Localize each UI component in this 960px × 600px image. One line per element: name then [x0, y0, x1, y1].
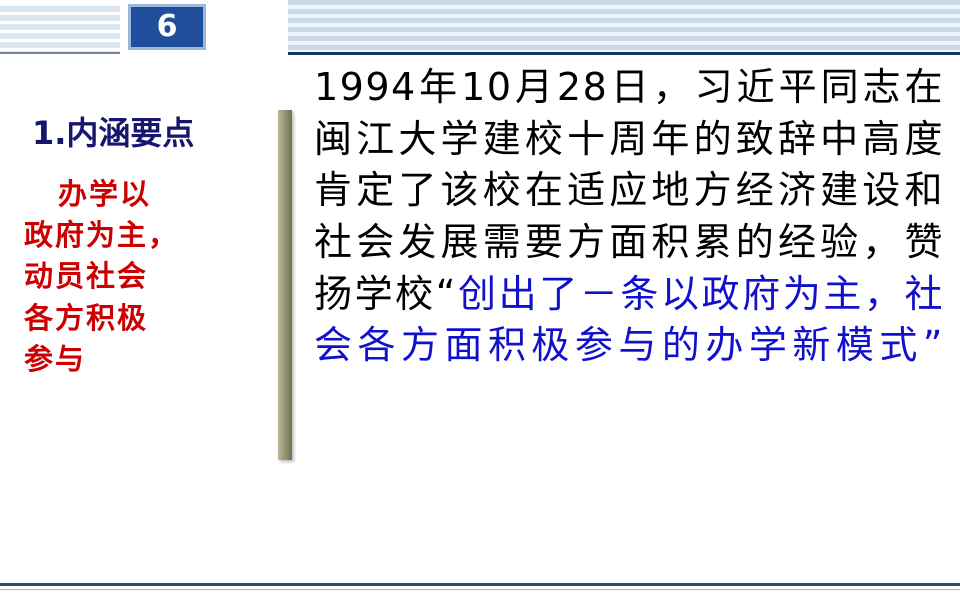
bottom-rule-navy [0, 583, 960, 586]
left-body-line-1: 办学以 [24, 174, 272, 215]
band-left-stripes [0, 6, 120, 54]
vertical-divider-bar [278, 110, 292, 460]
band-right-stripes [288, 0, 960, 55]
left-body-line-2: 政府为主， [24, 215, 272, 256]
left-panel-body: 办学以 政府为主， 动员社会 各方积极 参与 [24, 174, 272, 380]
slide-number-badge: 6 [128, 4, 206, 50]
bottom-rule-light [0, 589, 960, 590]
right-panel: 1994年10月28日，习近平同志在闽江大学建校十周年的致辞中高度肯定了该校在适… [314, 62, 944, 372]
left-body-line-3: 动员社会 [24, 256, 272, 297]
slide-number-text: 6 [157, 12, 178, 42]
left-panel: 1.内涵要点 办学以 政府为主， 动员社会 各方积极 参与 [0, 86, 290, 526]
left-body-line-4: 各方积极 [24, 298, 272, 339]
top-decorative-band: 6 [0, 0, 960, 60]
left-body-line-5: 参与 [24, 339, 272, 380]
left-panel-heading: 1.内涵要点 [32, 108, 194, 154]
right-panel-paragraph: 1994年10月28日，习近平同志在闽江大学建校十周年的致辞中高度肯定了该校在适… [314, 62, 944, 372]
